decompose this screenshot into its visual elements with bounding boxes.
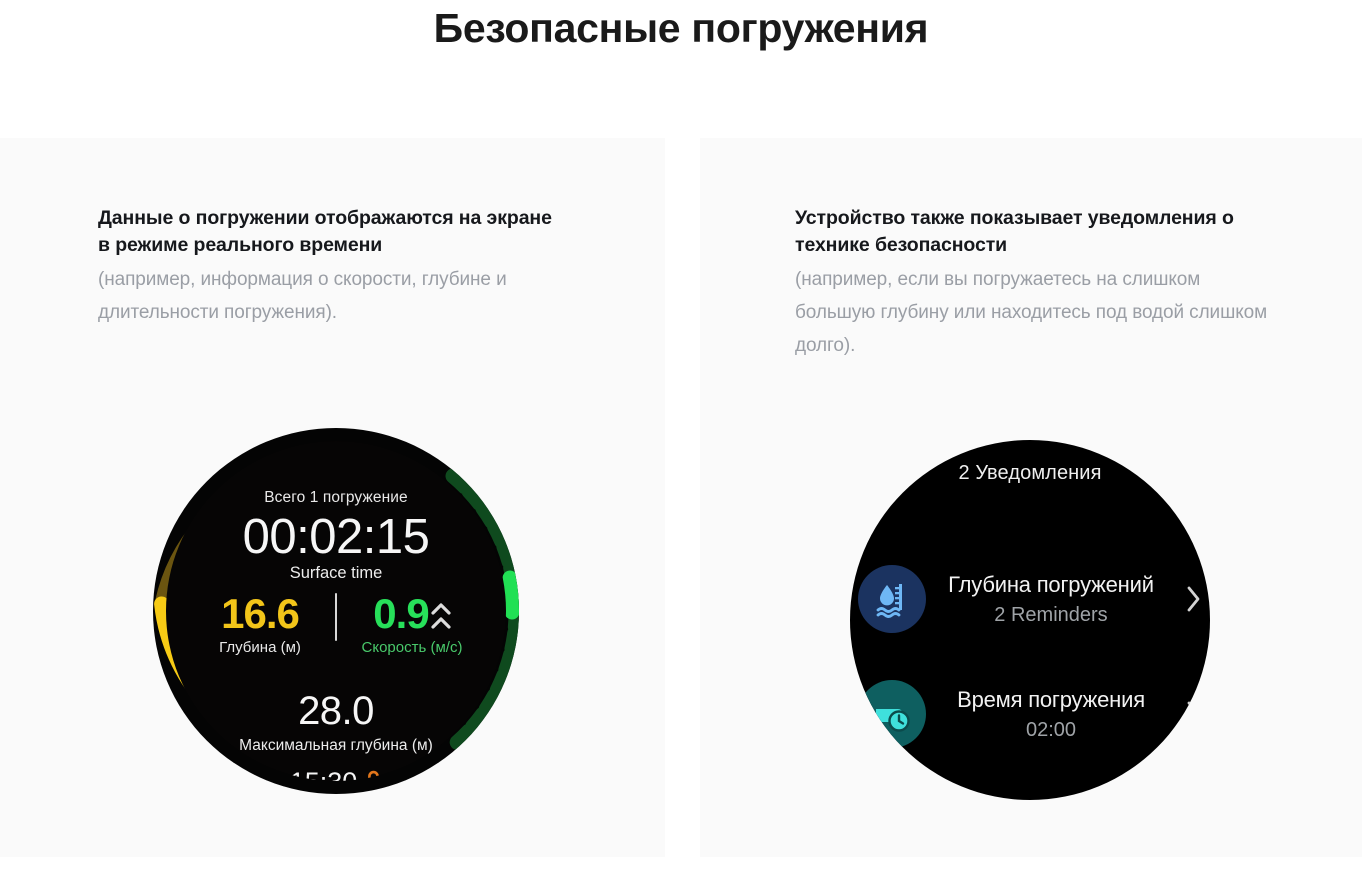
dive-watch-screen: Всего 1 погружение 00:02:15 Surface time… xyxy=(166,441,506,781)
feature-headline-left: Данные о погружении отображаются на экра… xyxy=(98,205,568,259)
dive-metrics-row: 16.6 Глубина (м) 0.9 xyxy=(166,591,506,658)
feature-headline-right: Устройство также показывает уведомления … xyxy=(795,205,1275,259)
dive-surface-timer-label: Surface time xyxy=(166,564,506,583)
dive-speed-metric: 0.9 Скорость (м/с) xyxy=(341,591,483,658)
dive-speed-label: Скорость (м/с) xyxy=(341,638,483,658)
water-depth-gauge-icon xyxy=(858,565,926,633)
notifications-title: 2 Уведомления xyxy=(850,462,1210,485)
notification-time-sub: 02:00 xyxy=(932,716,1170,744)
dive-max-depth-value: 28.0 xyxy=(166,689,506,734)
dive-clock-row: 15:30 xyxy=(166,767,506,781)
feature-copy-right: Устройство также показывает уведомления … xyxy=(795,205,1275,362)
notification-time-body: Время погружения 02:00 xyxy=(926,685,1176,744)
notifications-watch-face: 2 Уведомления Глубина погружений 2 Remin… xyxy=(850,440,1210,800)
notification-item-depth[interactable]: Глубина погружений 2 Reminders xyxy=(858,565,1210,633)
double-chevron-up-icon xyxy=(431,602,451,629)
chevron-right-icon[interactable] xyxy=(1176,699,1210,729)
dive-watch-face: Всего 1 погружение 00:02:15 Surface time… xyxy=(153,428,519,794)
dive-depth-value: 16.6 xyxy=(189,591,331,637)
dive-surface-timer: 00:02:15 xyxy=(166,509,506,565)
dive-speed-value: 0.9 xyxy=(373,591,428,637)
notification-item-time[interactable]: Время погружения 02:00 xyxy=(858,680,1210,748)
notification-depth-sub: 2 Reminders xyxy=(932,601,1170,629)
feature-subtext-left: (например, информация о скорости, глубин… xyxy=(98,263,568,329)
chevron-right-icon[interactable] xyxy=(1176,584,1210,614)
dive-clock-value: 15:30 xyxy=(290,767,358,781)
lock-icon xyxy=(365,770,382,782)
page-title: Безопасные погружения xyxy=(0,2,1362,54)
feature-subtext-right: (например, если вы погружаетесь на слишк… xyxy=(795,263,1275,362)
notification-depth-body: Глубина погружений 2 Reminders xyxy=(926,570,1176,629)
notification-time-name: Время погружения xyxy=(932,685,1170,715)
notification-depth-name: Глубина погружений xyxy=(932,570,1170,600)
dive-depth-metric: 16.6 Глубина (м) xyxy=(189,591,331,658)
dive-total-label: Всего 1 погружение xyxy=(166,489,506,507)
dive-depth-label: Глубина (м) xyxy=(189,638,331,658)
dive-max-depth-label: Максимальная глубина (м) xyxy=(166,737,506,755)
metrics-divider xyxy=(335,593,337,641)
dive-timer-icon xyxy=(858,680,926,748)
page-root: Безопасные погружения Данные о погружени… xyxy=(0,0,1362,872)
feature-copy-left: Данные о погружении отображаются на экра… xyxy=(98,205,568,329)
